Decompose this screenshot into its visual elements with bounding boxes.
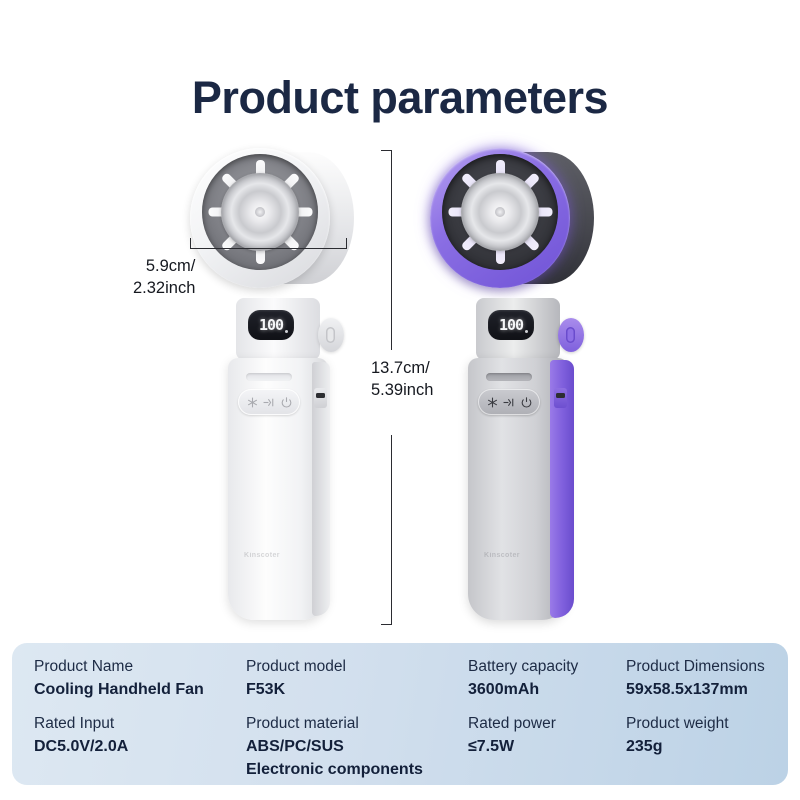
spec-value: ABS/PC/SUS (246, 735, 462, 758)
white-fan-head (190, 142, 356, 302)
purple-fan-battery-readout: 100 (499, 316, 523, 334)
fan-speed-icon (502, 396, 517, 409)
height-dimension-label: 13.7cm/ 5.39inch (371, 357, 433, 401)
height-measure-line-top (391, 150, 392, 350)
height-measure-cap-bottom (381, 624, 392, 625)
spec-panel: Product Name Cooling Handheld Fan Produc… (12, 643, 788, 785)
spec-label: Product material (246, 713, 462, 735)
width-measure-cap-left (190, 238, 191, 249)
height-measure-line-bottom (391, 435, 392, 625)
width-dimension-label: 5.9cm/ 2.32inch (133, 255, 195, 299)
spec-cell-product-material: Product material ABS/PC/SUS Electronic c… (246, 713, 468, 781)
white-fan-led-screen: 100 (248, 310, 294, 340)
purple-fan-lanyard-loop (558, 318, 584, 352)
width-measure-cap-right (346, 238, 347, 249)
spec-label: Product model (246, 656, 462, 678)
power-icon (280, 396, 293, 409)
spec-value: Cooling Handheld Fan (34, 678, 240, 701)
purple-fan-speed-bar[interactable] (486, 373, 532, 381)
spec-label: Rated power (468, 713, 620, 735)
white-fan-control-button[interactable] (238, 389, 300, 415)
white-fan-battery-readout: 100 (259, 316, 283, 334)
spec-value: F53K (246, 678, 462, 701)
snowflake-icon (486, 396, 499, 409)
spec-label: Product weight (626, 713, 800, 735)
snowflake-icon (246, 396, 259, 409)
purple-fan-brand-logo: Kinscoter (484, 552, 520, 559)
spec-cell-product-name: Product Name Cooling Handheld Fan (34, 656, 246, 701)
white-fan-brand-logo: Kinscoter (244, 552, 280, 559)
spec-value-line2: Electronic components (246, 758, 462, 781)
spec-cell-product-weight: Product weight 235g (626, 713, 800, 781)
spec-value: 59x58.5x137mm (626, 678, 800, 701)
spec-cell-rated-power: Rated power ≤7.5W (468, 713, 626, 781)
spec-value: 3600mAh (468, 678, 620, 701)
spec-grid: Product Name Cooling Handheld Fan Produc… (34, 656, 778, 781)
percent-dot-icon (285, 330, 288, 333)
white-handheld-fan: 100 (190, 130, 370, 630)
purple-fan-usb-port (554, 388, 567, 408)
spec-cell-battery-capacity: Battery capacity 3600mAh (468, 656, 626, 701)
purple-handheld-fan: 100 Kinscoter (430, 130, 610, 630)
purple-fan-led-screen: 100 (488, 310, 534, 340)
product-image-stage: 100 (0, 130, 800, 640)
fan-metal-hub (461, 173, 539, 251)
spec-label: Product Dimensions (626, 656, 800, 678)
page-title: Product parameters (0, 72, 800, 124)
spec-label: Rated Input (34, 713, 240, 735)
spec-label: Product Name (34, 656, 240, 678)
spec-value: DC5.0V/2.0A (34, 735, 240, 758)
white-fan-lanyard-loop (318, 318, 344, 352)
fan-metal-hub (221, 173, 299, 251)
white-fan-speed-bar[interactable] (246, 373, 292, 381)
spec-value: ≤7.5W (468, 735, 620, 758)
product-parameters-page: Product parameters (0, 0, 800, 800)
percent-dot-icon (525, 330, 528, 333)
spec-cell-product-model: Product model F53K (246, 656, 468, 701)
spec-cell-product-dimensions: Product Dimensions 59x58.5x137mm (626, 656, 800, 701)
white-fan-usb-port (314, 388, 327, 408)
height-measure-cap-top (381, 150, 392, 151)
purple-fan-control-button[interactable] (478, 389, 540, 415)
fan-speed-icon (262, 396, 277, 409)
spec-label: Battery capacity (468, 656, 620, 678)
spec-cell-rated-input: Rated Input DC5.0V/2.0A (34, 713, 246, 781)
purple-fan-head (430, 142, 596, 302)
spec-value: 235g (626, 735, 800, 758)
power-icon (520, 396, 533, 409)
width-measure-line (190, 248, 346, 249)
